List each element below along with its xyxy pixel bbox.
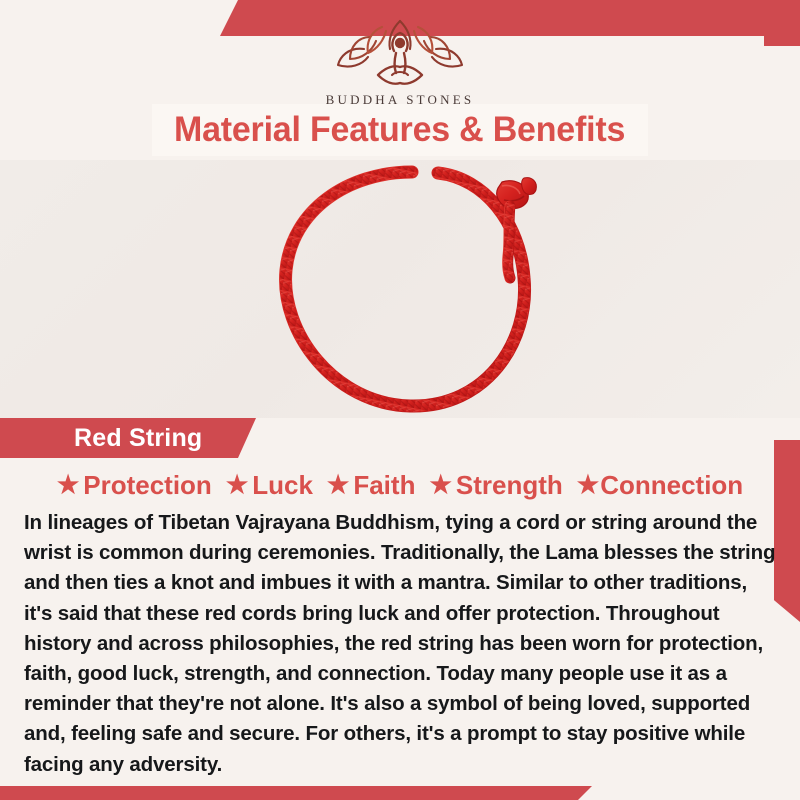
benefit-item: ★ Strength	[422, 470, 569, 501]
label-left-strip	[0, 418, 26, 458]
red-string-bracelet-photo	[252, 160, 572, 418]
description-paragraph: In lineages of Tibetan Vajrayana Buddhis…	[24, 508, 780, 780]
star-icon: ★	[577, 473, 599, 498]
benefit-item: ★ Luck	[219, 470, 320, 501]
infographic-page: BUDDHA STONES Material Features & Benefi…	[0, 0, 800, 800]
star-icon: ★	[57, 473, 79, 498]
benefit-item: ★ Faith	[320, 470, 423, 501]
benefit-item: ★ Connection	[570, 470, 750, 501]
red-angled-bottom-bar	[0, 786, 592, 800]
benefit-label: Protection	[83, 470, 212, 501]
lotus-meditation-figure-icon	[334, 17, 466, 91]
star-icon: ★	[429, 473, 451, 498]
benefit-label: Faith	[353, 470, 415, 501]
brand-header: BUDDHA STONES	[0, 0, 800, 108]
material-label: Red String	[74, 424, 202, 453]
product-image-area	[0, 160, 800, 418]
benefit-label: Luck	[252, 470, 313, 501]
page-title: Material Features & Benefits	[174, 110, 625, 150]
benefit-label: Strength	[456, 470, 563, 501]
benefits-row: ★ Protection ★ Luck ★ Faith ★ Strength ★…	[0, 466, 800, 504]
page-title-banner: Material Features & Benefits	[152, 104, 648, 156]
star-icon: ★	[226, 473, 248, 498]
star-icon: ★	[327, 473, 349, 498]
material-label-banner: Red String	[26, 418, 256, 458]
benefit-item: ★ Protection	[50, 470, 219, 501]
benefit-label: Connection	[600, 470, 743, 501]
